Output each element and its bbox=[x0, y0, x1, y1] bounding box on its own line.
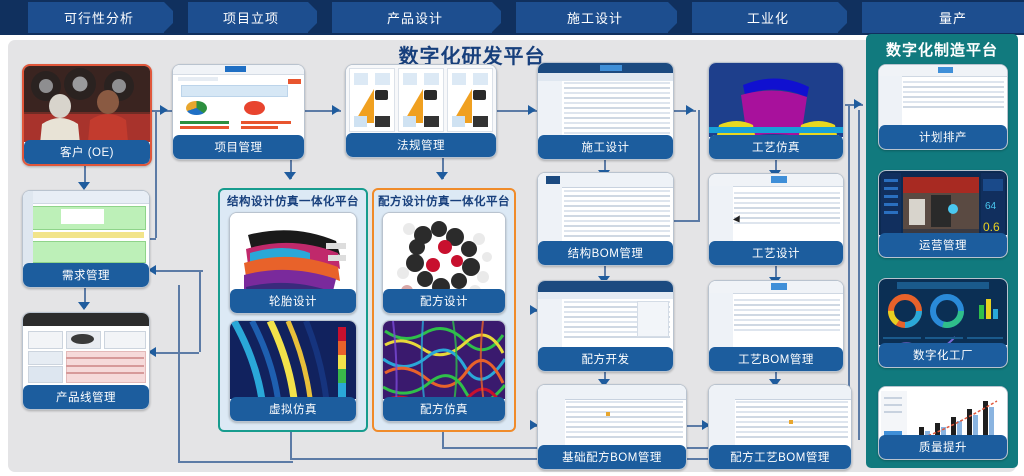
node-label: 工艺BOM管理 bbox=[709, 347, 843, 371]
quality-bar-chart-thumbnail bbox=[879, 387, 1007, 437]
node-label: 客户 (OE) bbox=[24, 140, 150, 164]
form-window-thumbnail bbox=[538, 63, 673, 137]
stage-chevron-4[interactable]: 工业化 bbox=[692, 2, 838, 33]
node-label: 配方工艺BOM管理 bbox=[709, 445, 851, 469]
stage-label: 工业化 bbox=[741, 8, 789, 27]
node-label: 数字化工厂 bbox=[879, 343, 1007, 367]
process-simulation-3d-thumbnail bbox=[709, 63, 843, 137]
node-label: 基础配方BOM管理 bbox=[538, 445, 686, 469]
stage-chevron-5[interactable]: 量产 bbox=[862, 2, 1024, 33]
node-construction-design[interactable]: 施工设计 bbox=[537, 62, 674, 160]
node-quality-improvement[interactable]: 质量提升 bbox=[878, 386, 1008, 460]
diagram-root: 可行性分析 项目立项 产品设计 施工设计 工业化 量产 数字化研发平台 bbox=[0, 0, 1024, 476]
bom-table-thumbnail bbox=[709, 385, 851, 447]
node-label: 配方设计 bbox=[383, 289, 505, 313]
node-label: 项目管理 bbox=[173, 135, 304, 159]
connector-arrow bbox=[78, 302, 90, 310]
node-label: 运营管理 bbox=[879, 233, 1007, 257]
group-title: 配方设计仿真一体化平台 bbox=[374, 193, 514, 209]
connector-arrow bbox=[686, 105, 694, 115]
factory-monitor-thumbnail: 64 0.6 bbox=[879, 171, 1007, 235]
connector-line bbox=[672, 220, 700, 222]
node-process-design[interactable]: 工艺设计 bbox=[708, 173, 844, 266]
node-label: 配方仿真 bbox=[383, 397, 505, 421]
stage-chevron-3[interactable]: 施工设计 bbox=[516, 2, 668, 33]
node-label: 工艺仿真 bbox=[709, 135, 843, 159]
connector-arrow bbox=[78, 182, 90, 190]
node-label: 质量提升 bbox=[879, 435, 1007, 459]
node-label: 虚拟仿真 bbox=[230, 397, 356, 421]
connector-line bbox=[199, 270, 201, 352]
connector-arrow bbox=[284, 172, 296, 180]
connector-line bbox=[858, 110, 860, 440]
svg-text:0.6: 0.6 bbox=[983, 220, 1000, 234]
node-label: 结构BOM管理 bbox=[538, 241, 673, 265]
bom-table-thumbnail bbox=[709, 281, 843, 349]
node-label: 法规管理 bbox=[346, 133, 496, 157]
connector-line bbox=[178, 461, 293, 463]
connector-line bbox=[155, 270, 203, 272]
connector-arrow bbox=[528, 105, 536, 115]
node-label: 工艺设计 bbox=[709, 241, 843, 265]
node-product-line[interactable]: 产品线管理 bbox=[22, 312, 150, 410]
manufacturing-platform-panel: 数字化制造平台 计划排产 bbox=[866, 34, 1018, 468]
stage-label: 施工设计 bbox=[561, 8, 623, 27]
node-customer[interactable]: 客户 (OE) bbox=[22, 64, 152, 166]
node-process-simulation[interactable]: 工艺仿真 bbox=[708, 62, 844, 160]
connector-arrow bbox=[854, 99, 862, 109]
tire-label-cards-thumbnail bbox=[346, 65, 496, 135]
planning-table-thumbnail bbox=[879, 65, 1007, 127]
manufacturing-platform-title: 数字化制造平台 bbox=[866, 39, 1018, 60]
molecule-model-render bbox=[383, 213, 505, 291]
project-dashboard-thumbnail bbox=[173, 65, 304, 137]
group-formula-platform: 配方设计仿真一体化平台 bbox=[372, 188, 516, 432]
stage-chevron-0[interactable]: 可行性分析 bbox=[28, 2, 164, 33]
stage-label: 项目立项 bbox=[217, 8, 279, 27]
stage-label: 可行性分析 bbox=[58, 8, 134, 27]
connector-line bbox=[290, 428, 292, 460]
svg-text:64: 64 bbox=[985, 201, 997, 212]
connector-line bbox=[155, 110, 157, 238]
node-base-formula-bom[interactable]: 基础配方BOM管理 bbox=[537, 384, 687, 470]
group-title: 结构设计仿真一体化平台 bbox=[220, 193, 366, 209]
connector-line bbox=[290, 458, 758, 460]
tire-cross-section-render bbox=[230, 213, 356, 291]
stage-chevron-1[interactable]: 项目立项 bbox=[188, 2, 308, 33]
stage-label: 量产 bbox=[933, 8, 967, 27]
bom-table-thumbnail bbox=[538, 173, 673, 243]
node-digital-factory[interactable]: 数字化工厂 bbox=[878, 278, 1008, 368]
node-requirements[interactable]: 需求管理 bbox=[22, 190, 150, 288]
node-project-management[interactable]: 项目管理 bbox=[172, 64, 305, 160]
bom-table-thumbnail bbox=[538, 385, 686, 447]
tire-stress-heatmap bbox=[230, 321, 356, 399]
node-label: 产品线管理 bbox=[23, 385, 149, 409]
requirements-document-thumbnail bbox=[23, 191, 149, 265]
kpi-dashboard-thumbnail bbox=[879, 279, 1007, 345]
node-formula-simulation[interactable]: 配方仿真 bbox=[382, 320, 506, 422]
node-process-bom[interactable]: 工艺BOM管理 bbox=[708, 280, 844, 372]
node-virtual-simulation[interactable]: 虚拟仿真 bbox=[229, 320, 357, 422]
recipe-table-thumbnail bbox=[538, 281, 673, 349]
node-formula-process-bom[interactable]: 配方工艺BOM管理 bbox=[708, 384, 852, 470]
node-label: 配方开发 bbox=[538, 347, 673, 371]
customer-photo-thumbnail bbox=[24, 66, 150, 142]
connector-arrow bbox=[160, 105, 168, 115]
stage-chevron-2[interactable]: 产品设计 bbox=[332, 2, 492, 33]
node-label: 施工设计 bbox=[538, 135, 673, 159]
product-line-dashboard-thumbnail bbox=[23, 313, 149, 387]
node-label: 计划排产 bbox=[879, 125, 1007, 149]
node-formula-design[interactable]: 配方设计 bbox=[382, 212, 506, 314]
stage-label: 产品设计 bbox=[381, 8, 443, 27]
microstructure-simulation bbox=[383, 321, 505, 399]
process-stage-banner: 可行性分析 项目立项 产品设计 施工设计 工业化 量产 bbox=[0, 0, 1024, 35]
connector-arrow bbox=[332, 105, 340, 115]
process-table-thumbnail bbox=[709, 174, 843, 243]
node-tire-design[interactable]: 轮胎设计 bbox=[229, 212, 357, 314]
node-label: 需求管理 bbox=[23, 263, 149, 287]
node-regulation-management[interactable]: 法规管理 bbox=[345, 64, 497, 158]
group-structure-platform: 结构设计仿真一体化平台 轮胎设计 bbox=[218, 188, 368, 432]
connector-arrow bbox=[436, 172, 448, 180]
node-label: 轮胎设计 bbox=[230, 289, 356, 313]
connector-line bbox=[155, 352, 199, 354]
node-structure-bom[interactable]: 结构BOM管理 bbox=[537, 172, 674, 266]
node-production-planning[interactable]: 计划排产 bbox=[878, 64, 1008, 150]
node-formula-development[interactable]: 配方开发 bbox=[537, 280, 674, 372]
connector-line bbox=[178, 285, 180, 462]
connector-line bbox=[698, 110, 700, 220]
node-operations-management[interactable]: 64 0.6 运营管理 bbox=[878, 170, 1008, 258]
